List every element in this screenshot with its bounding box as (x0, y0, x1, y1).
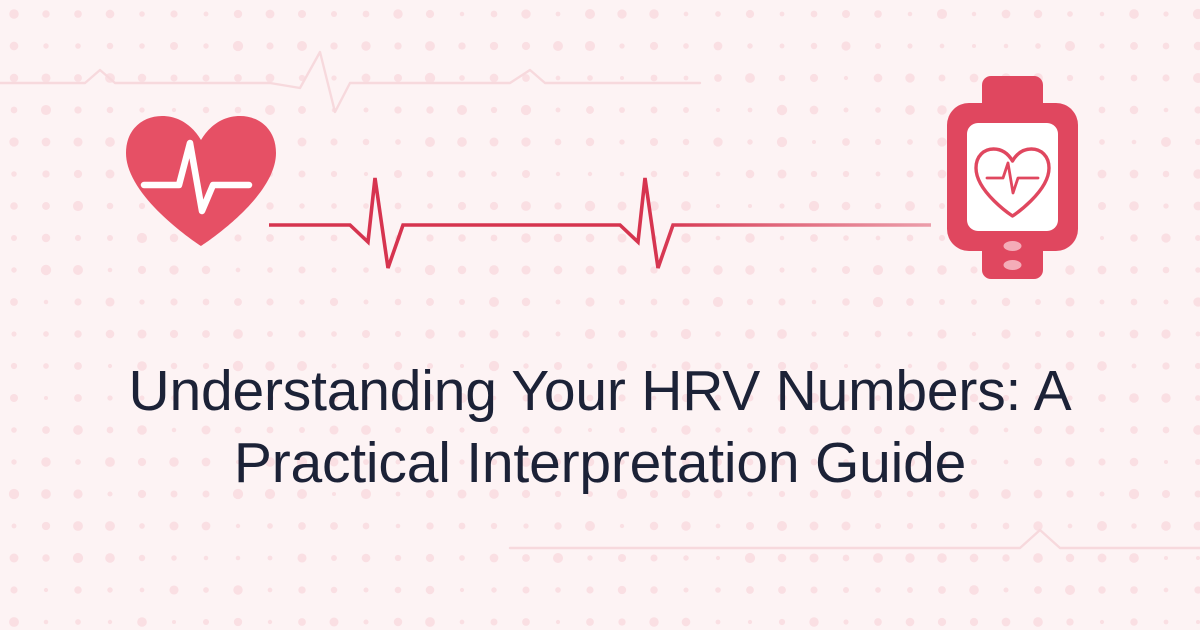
watch-button-dot-lower (1004, 260, 1022, 270)
page-title: Understanding Your HRV Numbers: A Practi… (0, 355, 1200, 499)
page-title-line-1: Understanding Your HRV Numbers: A (0, 355, 1200, 427)
heart-shape (126, 116, 276, 246)
faint-ecg-line-top (0, 52, 700, 112)
social-share-banner: Understanding Your HRV Numbers: A Practi… (0, 0, 1200, 630)
ecg-waveform-path (269, 178, 931, 268)
ecg-pulse-line (255, 160, 945, 290)
watch-button-dot-upper (1004, 241, 1022, 251)
faint-ecg-line-bottom (510, 530, 1200, 548)
page-title-line-2: Practical Interpretation Guide (0, 427, 1200, 499)
smartwatch-heart-rate-icon (945, 70, 1080, 285)
